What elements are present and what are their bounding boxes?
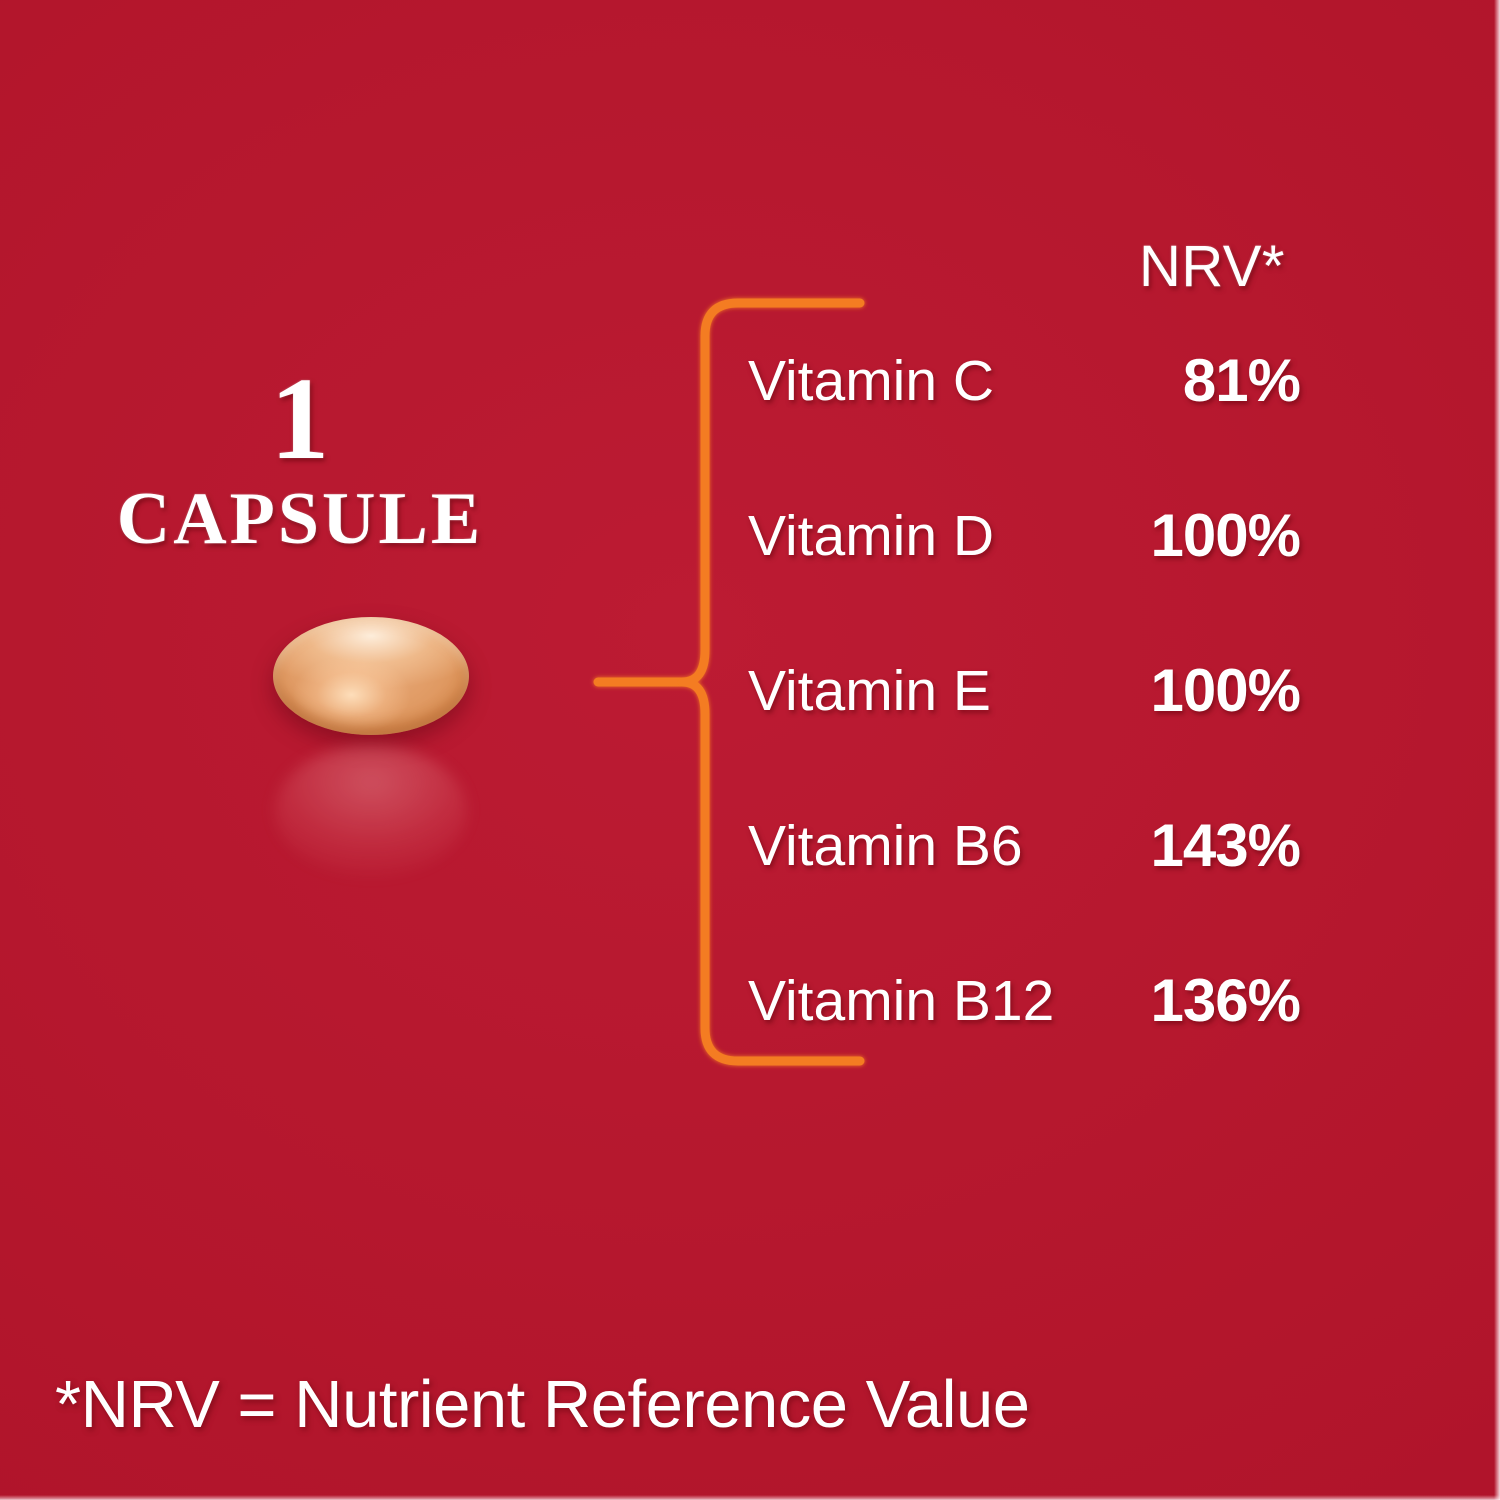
nutrient-nrv-value: 100% xyxy=(1151,505,1300,567)
infographic-canvas: 1 CAPSULE xyxy=(0,0,1500,1500)
nutrient-nrv-value: 143% xyxy=(1151,815,1300,877)
capsule-body xyxy=(273,617,469,735)
nutrient-nrv-value: 136% xyxy=(1151,970,1300,1032)
nutrient-name: Vitamin B12 xyxy=(748,971,1054,1031)
nutrient-table: Vitamin C 81% Vitamin D 100% Vitamin E 1… xyxy=(748,303,1300,1078)
table-row: Vitamin C 81% xyxy=(748,303,1300,458)
nutrient-name: Vitamin E xyxy=(748,661,991,721)
canvas-right-edge-highlight xyxy=(1494,0,1500,1500)
nutrient-name: Vitamin D xyxy=(748,506,994,566)
nutrient-nrv-value: 81% xyxy=(1183,350,1300,412)
table-row: Vitamin D 100% xyxy=(748,458,1300,613)
nutrient-nrv-value: 100% xyxy=(1151,660,1300,722)
canvas-bottom-edge-highlight xyxy=(0,1495,1500,1500)
table-row: Vitamin B12 136% xyxy=(748,923,1300,1078)
dose-unit-label: CAPSULE xyxy=(0,482,600,556)
dose-number: 1 xyxy=(0,360,600,478)
nutrient-name: Vitamin B6 xyxy=(748,816,1023,876)
capsule-softgel-icon xyxy=(245,595,505,895)
capsule-reflection xyxy=(275,745,467,877)
nrv-column-header: NRV* xyxy=(995,238,1285,296)
nrv-footnote: *NRV = Nutrient Reference Value xyxy=(55,1368,1355,1442)
table-row: Vitamin E 100% xyxy=(748,613,1300,768)
nutrient-name: Vitamin C xyxy=(748,351,994,411)
table-row: Vitamin B6 143% xyxy=(748,768,1300,923)
